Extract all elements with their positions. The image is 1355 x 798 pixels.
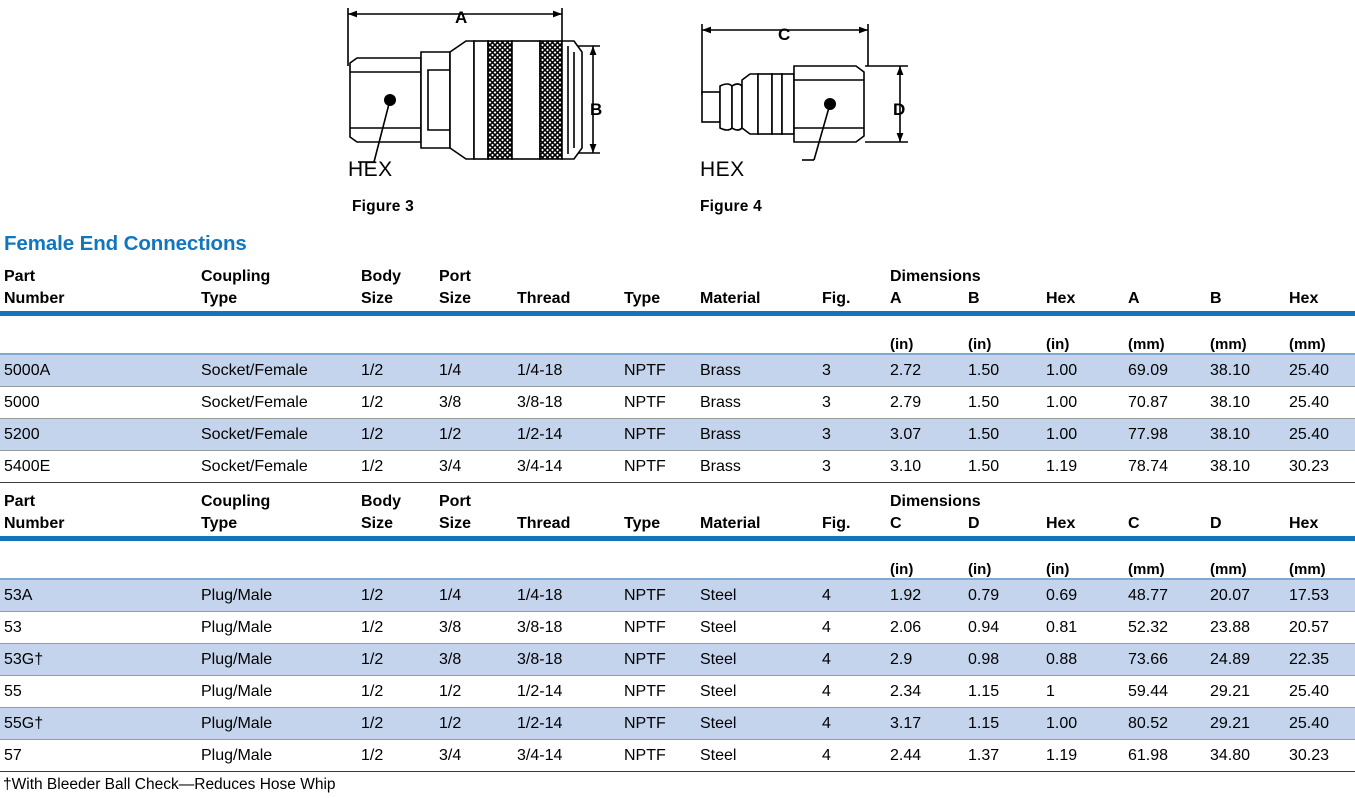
col-header-coupling-type: Coupling Type: [197, 487, 357, 536]
cell-part: 55G†: [0, 708, 197, 740]
col-header-body-line2: Size: [361, 513, 435, 535]
cell-dim-4: 73.66: [1124, 644, 1206, 676]
table-header-row: Part Number Coupling Type Body Size Port…: [0, 262, 1355, 311]
col-header-body-size: Body Size: [357, 262, 435, 311]
col-header-dim-1: Dimensions A: [886, 262, 964, 311]
col-header-coupling-line1: Coupling: [201, 493, 270, 510]
col-header-type: Type: [620, 262, 696, 311]
cell-part: 5200: [0, 419, 197, 451]
cell-fig: 4: [818, 676, 886, 708]
cell-body-size: 1/2: [357, 419, 435, 451]
col-header-type: Type: [620, 487, 696, 536]
cell-coupling: Socket/Female: [197, 451, 357, 483]
cell-thread: 1/4-18: [513, 580, 620, 612]
dimensions-group-label: Dimensions: [890, 268, 981, 285]
cell-dim-1: 3.07: [886, 419, 964, 451]
col-header-dim-1: Dimensions C: [886, 487, 964, 536]
col-header-thread: Thread: [513, 487, 620, 536]
cell-fig: 3: [818, 387, 886, 419]
cell-dim-3: 1.00: [1042, 419, 1124, 451]
col-header-dim-5: D: [1206, 487, 1285, 536]
cell-dim-5: 38.10: [1206, 387, 1285, 419]
col-header-dim-6: Hex: [1285, 487, 1355, 536]
col-header-part: Part Number: [0, 487, 197, 536]
cell-dim-2: 0.98: [964, 644, 1042, 676]
cell-dim-5: 24.89: [1206, 644, 1285, 676]
cell-coupling: Socket/Female: [197, 419, 357, 451]
col-header-part-line2: Number: [4, 288, 197, 310]
col-header-part-line1: Part: [4, 268, 35, 285]
male-connections-table: Part Number Coupling Type Body Size Port…: [0, 487, 1355, 772]
figure-3-hex-label: HEX: [348, 158, 393, 182]
cell-dim-4: 78.74: [1124, 451, 1206, 483]
col-header-coupling-line1: Coupling: [201, 268, 270, 285]
col-header-port-line2: Size: [439, 288, 513, 310]
cell-thread: 1/4-18: [513, 355, 620, 387]
cell-port-size: 3/4: [435, 740, 513, 772]
cell-material: Steel: [696, 676, 818, 708]
figure-3-drawing: [330, 0, 630, 228]
cell-port-size: 1/2: [435, 419, 513, 451]
unit-dim-1: (in): [886, 316, 964, 353]
cell-dim-2: 1.50: [964, 419, 1042, 451]
unit-dim-4: (mm): [1124, 316, 1206, 353]
table-row[interactable]: 55G† Plug/Male 1/2 1/2 1/2-14 NPTF Steel…: [0, 708, 1355, 740]
cell-dim-5: 29.21: [1206, 676, 1285, 708]
cell-thread: 1/2-14: [513, 676, 620, 708]
cell-dim-1: 2.44: [886, 740, 964, 772]
unit-dim-3: (in): [1042, 541, 1124, 578]
cell-dim-2: 1.50: [964, 355, 1042, 387]
cell-type: NPTF: [620, 644, 696, 676]
cell-thread: 3/4-14: [513, 451, 620, 483]
cell-part: 5000A: [0, 355, 197, 387]
col-header-body-line1: Body: [361, 493, 401, 510]
cell-port-size: 1/2: [435, 708, 513, 740]
cell-dim-3: 1.00: [1042, 708, 1124, 740]
figures-area: HEX HEX A B C D Figure 3 Figure 4: [0, 0, 1355, 228]
col-header-port-line1: Port: [439, 493, 471, 510]
cell-type: NPTF: [620, 580, 696, 612]
cell-thread: 3/8-18: [513, 612, 620, 644]
cell-thread: 3/4-14: [513, 740, 620, 772]
col-header-dim-6: Hex: [1285, 262, 1355, 311]
col-header-coupling-type: Coupling Type: [197, 262, 357, 311]
cell-type: NPTF: [620, 676, 696, 708]
cell-coupling: Plug/Male: [197, 612, 357, 644]
cell-dim-2: 1.15: [964, 708, 1042, 740]
col-header-dim-5: B: [1206, 262, 1285, 311]
col-header-dim-4: C: [1124, 487, 1206, 536]
cell-type: NPTF: [620, 740, 696, 772]
cell-dim-3: 1.19: [1042, 451, 1124, 483]
cell-dim-5: 38.10: [1206, 419, 1285, 451]
cell-dim-4: 77.98: [1124, 419, 1206, 451]
cell-fig: 4: [818, 644, 886, 676]
col-header-fig: Fig.: [818, 262, 886, 311]
cell-dim-3: 0.81: [1042, 612, 1124, 644]
cell-part: 55: [0, 676, 197, 708]
col-header-dim-3: Hex: [1042, 262, 1124, 311]
cell-dim-5: 38.10: [1206, 355, 1285, 387]
cell-dim-6: 17.53: [1285, 580, 1355, 612]
cell-body-size: 1/2: [357, 644, 435, 676]
cell-dim-3: 1.19: [1042, 740, 1124, 772]
table-row[interactable]: 53A Plug/Male 1/2 1/4 1/4-18 NPTF Steel …: [0, 580, 1355, 612]
figure-4-caption: Figure 4: [700, 198, 762, 216]
col-header-coupling-line2: Type: [201, 513, 357, 535]
cell-thread: 1/2-14: [513, 708, 620, 740]
cell-dim-4: 61.98: [1124, 740, 1206, 772]
col-header-body-line2: Size: [361, 288, 435, 310]
cell-dim-6: 22.35: [1285, 644, 1355, 676]
unit-dim-5: (mm): [1206, 316, 1285, 353]
cell-material: Brass: [696, 451, 818, 483]
table-header-row: Part Number Coupling Type Body Size Port…: [0, 487, 1355, 536]
cell-material: Steel: [696, 612, 818, 644]
col-header-port-size: Port Size: [435, 262, 513, 311]
col-header-dim-3: Hex: [1042, 487, 1124, 536]
cell-coupling: Plug/Male: [197, 580, 357, 612]
cell-part: 5400E: [0, 451, 197, 483]
cell-dim-2: 1.37: [964, 740, 1042, 772]
cell-dim-4: 80.52: [1124, 708, 1206, 740]
cell-material: Steel: [696, 740, 818, 772]
cell-body-size: 1/2: [357, 708, 435, 740]
cell-port-size: 1/4: [435, 580, 513, 612]
cell-dim-1: 2.9: [886, 644, 964, 676]
unit-dim-3: (in): [1042, 316, 1124, 353]
figure-4-dimension-d-label: D: [893, 100, 905, 120]
table-row[interactable]: 5200 Socket/Female 1/2 1/2 1/2-14 NPTF B…: [0, 419, 1355, 451]
cell-body-size: 1/2: [357, 612, 435, 644]
section-title: Female End Connections: [4, 232, 247, 256]
unit-dim-5: (mm): [1206, 541, 1285, 578]
cell-dim-1: 3.10: [886, 451, 964, 483]
figure-3-dimension-a-label: A: [455, 8, 467, 28]
units-row: (in) (in) (in) (mm) (mm) (mm): [0, 316, 1355, 353]
cell-thread: 3/8-18: [513, 387, 620, 419]
units-row: (in) (in) (in) (mm) (mm) (mm): [0, 541, 1355, 578]
col-header-port-line2: Size: [439, 513, 513, 535]
cell-port-size: 3/8: [435, 644, 513, 676]
cell-coupling: Socket/Female: [197, 355, 357, 387]
cell-dim-4: 59.44: [1124, 676, 1206, 708]
cell-dim-3: 0.88: [1042, 644, 1124, 676]
figure-3-caption: Figure 3: [352, 198, 414, 216]
cell-dim-3: 1.00: [1042, 355, 1124, 387]
cell-fig: 4: [818, 740, 886, 772]
figure-4-dimension-c-label: C: [778, 25, 790, 45]
cell-dim-4: 52.32: [1124, 612, 1206, 644]
cell-dim-1: 2.72: [886, 355, 964, 387]
col-header-dim-4: A: [1124, 262, 1206, 311]
female-connections-table: Part Number Coupling Type Body Size Port…: [0, 262, 1355, 483]
col-header-part-line1: Part: [4, 493, 35, 510]
cell-dim-2: 1.50: [964, 387, 1042, 419]
cell-dim-6: 20.57: [1285, 612, 1355, 644]
cell-dim-3: 1.00: [1042, 387, 1124, 419]
cell-body-size: 1/2: [357, 580, 435, 612]
cell-fig: 4: [818, 580, 886, 612]
table-row[interactable]: 53G† Plug/Male 1/2 3/8 3/8-18 NPTF Steel…: [0, 644, 1355, 676]
col-header-fig: Fig.: [818, 487, 886, 536]
table-row[interactable]: 5400E Socket/Female 1/2 3/4 3/4-14 NPTF …: [0, 451, 1355, 483]
table-row[interactable]: 57 Plug/Male 1/2 3/4 3/4-14 NPTF Steel 4…: [0, 740, 1355, 772]
cell-dim-5: 20.07: [1206, 580, 1285, 612]
cell-material: Steel: [696, 708, 818, 740]
cell-dim-2: 0.79: [964, 580, 1042, 612]
female-table-body: 5000A Socket/Female 1/2 1/4 1/4-18 NPTF …: [0, 355, 1355, 483]
col-header-material: Material: [696, 487, 818, 536]
cell-material: Steel: [696, 580, 818, 612]
table-row[interactable]: 5000A Socket/Female 1/2 1/4 1/4-18 NPTF …: [0, 355, 1355, 387]
cell-dim-6: 30.23: [1285, 451, 1355, 483]
cell-body-size: 1/2: [357, 355, 435, 387]
col-header-part: Part Number: [0, 262, 197, 311]
col-header-body-line1: Body: [361, 268, 401, 285]
cell-dim-6: 30.23: [1285, 740, 1355, 772]
unit-dim-4: (mm): [1124, 541, 1206, 578]
table-row[interactable]: 5000 Socket/Female 1/2 3/8 3/8-18 NPTF B…: [0, 387, 1355, 419]
cell-dim-2: 1.15: [964, 676, 1042, 708]
figure-4-hex-label: HEX: [700, 158, 745, 182]
cell-body-size: 1/2: [357, 451, 435, 483]
cell-dim-3: 0.69: [1042, 580, 1124, 612]
col-header-part-line2: Number: [4, 513, 197, 535]
cell-port-size: 1/4: [435, 355, 513, 387]
cell-type: NPTF: [620, 419, 696, 451]
cell-fig: 4: [818, 708, 886, 740]
cell-dim-5: 23.88: [1206, 612, 1285, 644]
cell-coupling: Plug/Male: [197, 644, 357, 676]
cell-thread: 3/8-18: [513, 644, 620, 676]
cell-part: 53A: [0, 580, 197, 612]
cell-fig: 3: [818, 419, 886, 451]
unit-dim-1: (in): [886, 541, 964, 578]
footnote: †With Bleeder Ball Check—Reduces Hose Wh…: [3, 776, 336, 794]
cell-coupling: Plug/Male: [197, 676, 357, 708]
cell-port-size: 3/8: [435, 612, 513, 644]
cell-dim-5: 29.21: [1206, 708, 1285, 740]
cell-dim-1: 2.34: [886, 676, 964, 708]
table-row[interactable]: 53 Plug/Male 1/2 3/8 3/8-18 NPTF Steel 4…: [0, 612, 1355, 644]
cell-material: Steel: [696, 644, 818, 676]
cell-dim-6: 25.40: [1285, 355, 1355, 387]
figure-3-dimension-b-label: B: [590, 100, 602, 120]
cell-fig: 4: [818, 612, 886, 644]
unit-dim-2: (in): [964, 316, 1042, 353]
cell-material: Brass: [696, 387, 818, 419]
cell-dim-4: 69.09: [1124, 355, 1206, 387]
col-header-port-size: Port Size: [435, 487, 513, 536]
cell-dim-1: 1.92: [886, 580, 964, 612]
cell-body-size: 1/2: [357, 676, 435, 708]
cell-dim-4: 70.87: [1124, 387, 1206, 419]
cell-part: 57: [0, 740, 197, 772]
col-header-thread: Thread: [513, 262, 620, 311]
cell-thread: 1/2-14: [513, 419, 620, 451]
unit-dim-6: (mm): [1285, 541, 1355, 578]
male-table-body: 53A Plug/Male 1/2 1/4 1/4-18 NPTF Steel …: [0, 580, 1355, 772]
cell-body-size: 1/2: [357, 740, 435, 772]
cell-material: Brass: [696, 419, 818, 451]
cell-material: Brass: [696, 355, 818, 387]
cell-coupling: Plug/Male: [197, 708, 357, 740]
cell-port-size: 3/4: [435, 451, 513, 483]
cell-type: NPTF: [620, 355, 696, 387]
cell-dim-5: 34.80: [1206, 740, 1285, 772]
cell-fig: 3: [818, 355, 886, 387]
col-header-port-line1: Port: [439, 268, 471, 285]
cell-body-size: 1/2: [357, 387, 435, 419]
cell-dim-6: 25.40: [1285, 387, 1355, 419]
cell-dim-3: 1: [1042, 676, 1124, 708]
cell-part: 5000: [0, 387, 197, 419]
cell-dim-6: 25.40: [1285, 708, 1355, 740]
cell-coupling: Plug/Male: [197, 740, 357, 772]
cell-coupling: Socket/Female: [197, 387, 357, 419]
cell-port-size: 3/8: [435, 387, 513, 419]
cell-dim-5: 38.10: [1206, 451, 1285, 483]
cell-dim-2: 0.94: [964, 612, 1042, 644]
unit-dim-6: (mm): [1285, 316, 1355, 353]
cell-dim-1: 2.06: [886, 612, 964, 644]
dimensions-group-label: Dimensions: [890, 493, 981, 510]
cell-part: 53: [0, 612, 197, 644]
cell-dim-6: 25.40: [1285, 676, 1355, 708]
col-header-coupling-line2: Type: [201, 288, 357, 310]
cell-dim-6: 25.40: [1285, 419, 1355, 451]
cell-dim-2: 1.50: [964, 451, 1042, 483]
table-row[interactable]: 55 Plug/Male 1/2 1/2 1/2-14 NPTF Steel 4…: [0, 676, 1355, 708]
cell-dim-1: 3.17: [886, 708, 964, 740]
unit-dim-2: (in): [964, 541, 1042, 578]
cell-part: 53G†: [0, 644, 197, 676]
cell-dim-1: 2.79: [886, 387, 964, 419]
cell-port-size: 1/2: [435, 676, 513, 708]
cell-fig: 3: [818, 451, 886, 483]
cell-type: NPTF: [620, 387, 696, 419]
cell-type: NPTF: [620, 708, 696, 740]
cell-dim-4: 48.77: [1124, 580, 1206, 612]
col-header-body-size: Body Size: [357, 487, 435, 536]
cell-type: NPTF: [620, 612, 696, 644]
cell-type: NPTF: [620, 451, 696, 483]
col-header-material: Material: [696, 262, 818, 311]
